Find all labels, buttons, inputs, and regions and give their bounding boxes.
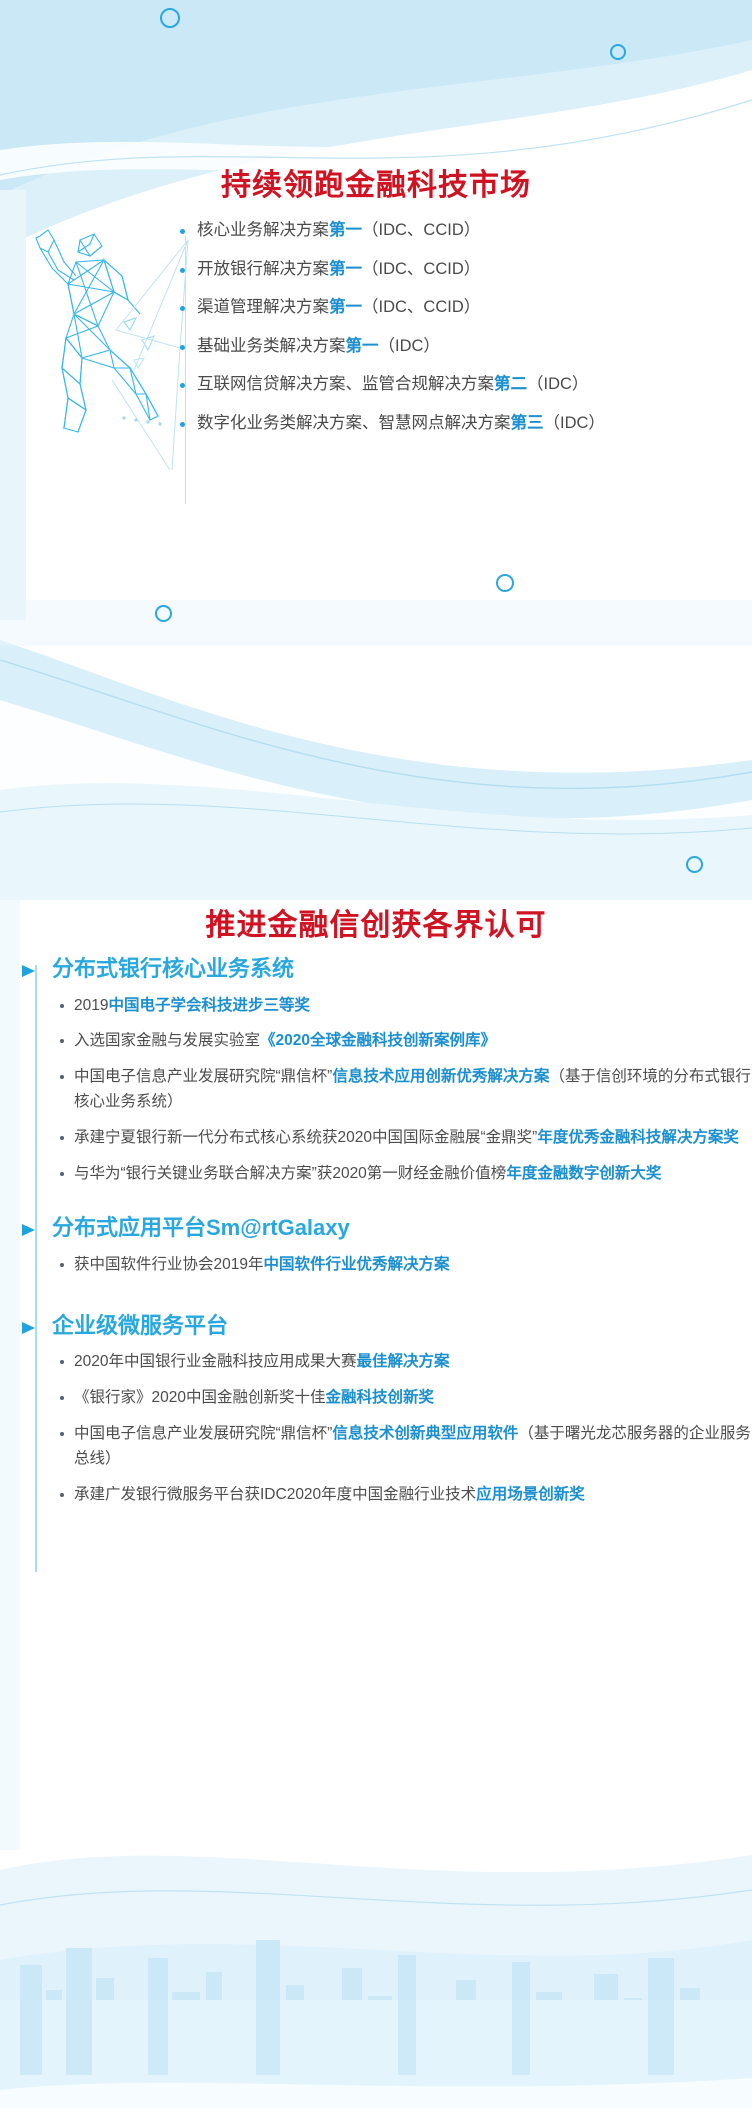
item-text: 2020年中国银行业金融科技应用成果大赛最佳解决方案: [74, 1350, 752, 1375]
list-item: 《银行家》2020中国金融创新奖十佳金融科技创新奖: [52, 1386, 752, 1411]
bullet-dot-icon: [60, 1432, 64, 1436]
bullet-dot-icon: [180, 306, 185, 311]
bullet-text: 渠道管理解决方案第一（IDC、CCID）: [197, 295, 700, 321]
bullet-dot-icon: [180, 268, 185, 273]
group-enterprise-microservice: 企业级微服务平台 2020年中国银行业金融科技应用成果大赛最佳解决方案 《银行家…: [0, 1312, 752, 1508]
bullet-text: 数字化业务类解决方案、智慧网点解决方案第三（IDC）: [197, 411, 700, 437]
bullet-text: 核心业务解决方案第一（IDC、CCID）: [197, 218, 700, 244]
arrow-marker-icon: [22, 965, 35, 977]
bullet-text: 互联网信贷解决方案、监管合规解决方案第二（IDC）: [197, 372, 700, 398]
arrow-marker-icon: [22, 1224, 35, 1236]
list-item: 开放银行解决方案第一（IDC、CCID）: [180, 257, 700, 283]
group-item-list: 2020年中国银行业金融科技应用成果大赛最佳解决方案 《银行家》2020中国金融…: [52, 1350, 752, 1507]
bullet-dot-icon: [180, 229, 185, 234]
group-item-list: 2019中国电子学会科技进步三等奖 入选国家金融与发展实验室《2020全球金融科…: [52, 994, 752, 1187]
bullet-text: 基础业务类解决方案第一（IDC）: [197, 334, 700, 360]
item-text: 中国电子信息产业发展研究院“鼎信杯”信息技术应用创新优秀解决方案（基于信创环境的…: [74, 1065, 752, 1115]
item-text: 承建宁夏银行新一代分布式核心系统获2020中国国际金融展“金鼎奖”年度优秀金融科…: [74, 1126, 752, 1151]
list-item: 2020年中国银行业金融科技应用成果大赛最佳解决方案: [52, 1350, 752, 1375]
group-heading: 分布式应用平台Sm@rtGalaxy: [52, 1214, 752, 1243]
list-item: 与华为“银行关键业务联合解决方案”获2020第一财经金融价值榜年度金融数字创新大…: [52, 1162, 752, 1187]
item-text: 入选国家金融与发展实验室《2020全球金融科技创新案例库》: [74, 1029, 752, 1054]
list-item: 2019中国电子学会科技进步三等奖: [52, 994, 752, 1019]
bullet-dot-icon: [60, 1136, 64, 1140]
bullet-dot-icon: [180, 345, 185, 350]
list-item: 数字化业务类解决方案、智慧网点解决方案第三（IDC）: [180, 411, 700, 437]
item-text: 承建广发银行微服务平台获IDC2020年度中国金融行业技术应用场景创新奖: [74, 1483, 752, 1508]
bullet-dot-icon: [60, 1004, 64, 1008]
group-distributed-bank-core: 分布式银行核心业务系统 2019中国电子学会科技进步三等奖 入选国家金融与发展实…: [0, 955, 752, 1186]
section1-title: 持续领跑金融科技市场: [0, 160, 752, 204]
list-item: 承建广发银行微服务平台获IDC2020年度中国金融行业技术应用场景创新奖: [52, 1483, 752, 1508]
city-skyline-icon: [20, 1940, 732, 2075]
list-item: 获中国软件行业协会2019年中国软件行业优秀解决方案: [52, 1253, 752, 1278]
list-item: 互联网信贷解决方案、监管合规解决方案第二（IDC）: [180, 372, 700, 398]
bullet-text: 开放银行解决方案第一（IDC、CCID）: [197, 257, 700, 283]
list-item: 中国电子信息产业发展研究院“鼎信杯”信息技术创新典型应用软件（基于曙光龙芯服务器…: [52, 1422, 752, 1472]
ring-decoration-icon: [155, 605, 172, 622]
bullet-dot-icon: [60, 1075, 64, 1079]
ring-decoration-icon: [686, 856, 703, 873]
item-text: 2019中国电子学会科技进步三等奖: [74, 994, 752, 1019]
bullet-dot-icon: [60, 1360, 64, 1364]
list-item: 承建宁夏银行新一代分布式核心系统获2020中国国际金融展“金鼎奖”年度优秀金融科…: [52, 1126, 752, 1151]
ring-decoration-icon: [496, 574, 514, 592]
group-heading: 分布式银行核心业务系统: [52, 955, 752, 984]
bullet-dot-icon: [60, 1172, 64, 1176]
group-smartgalaxy: 分布式应用平台Sm@rtGalaxy 获中国软件行业协会2019年中国软件行业优…: [0, 1214, 752, 1277]
section1-bullet-list: 核心业务解决方案第一（IDC、CCID） 开放银行解决方案第一（IDC、CCID…: [180, 218, 700, 449]
item-text: 获中国软件行业协会2019年中国软件行业优秀解决方案: [74, 1253, 752, 1278]
section2-groups: 分布式银行核心业务系统 2019中国电子学会科技进步三等奖 入选国家金融与发展实…: [0, 955, 752, 1518]
list-item: 入选国家金融与发展实验室《2020全球金融科技创新案例库》: [52, 1029, 752, 1054]
ring-decoration-icon: [610, 44, 626, 60]
bullet-dot-icon: [60, 1039, 64, 1043]
group-spine-line: [35, 1322, 37, 1572]
bullet-dot-icon: [60, 1396, 64, 1400]
item-text: 《银行家》2020中国金融创新奖十佳金融科技创新奖: [74, 1386, 752, 1411]
list-item: 中国电子信息产业发展研究院“鼎信杯”信息技术应用创新优秀解决方案（基于信创环境的…: [52, 1065, 752, 1115]
section2-title: 推进金融信创获各界认可: [0, 900, 752, 944]
city-skyline-back-icon: [0, 2000, 752, 2108]
list-item: 核心业务解决方案第一（IDC、CCID）: [180, 218, 700, 244]
arrow-marker-icon: [22, 1322, 35, 1334]
ring-decoration-icon: [160, 8, 180, 28]
poster-page: 持续领跑金融科技市场: [0, 0, 752, 2108]
item-text: 与华为“银行关键业务联合解决方案”获2020第一财经金融价值榜年度金融数字创新大…: [74, 1162, 752, 1187]
bullet-dot-icon: [180, 422, 185, 427]
bullet-dot-icon: [60, 1263, 64, 1267]
bullet-dot-icon: [180, 383, 185, 388]
group-heading: 企业级微服务平台: [52, 1312, 752, 1341]
item-text: 中国电子信息产业发展研究院“鼎信杯”信息技术创新典型应用软件（基于曙光龙芯服务器…: [74, 1422, 752, 1472]
group-item-list: 获中国软件行业协会2019年中国软件行业优秀解决方案: [52, 1253, 752, 1278]
bullet-dot-icon: [60, 1493, 64, 1497]
list-item: 基础业务类解决方案第一（IDC）: [180, 334, 700, 360]
list-item: 渠道管理解决方案第一（IDC、CCID）: [180, 295, 700, 321]
